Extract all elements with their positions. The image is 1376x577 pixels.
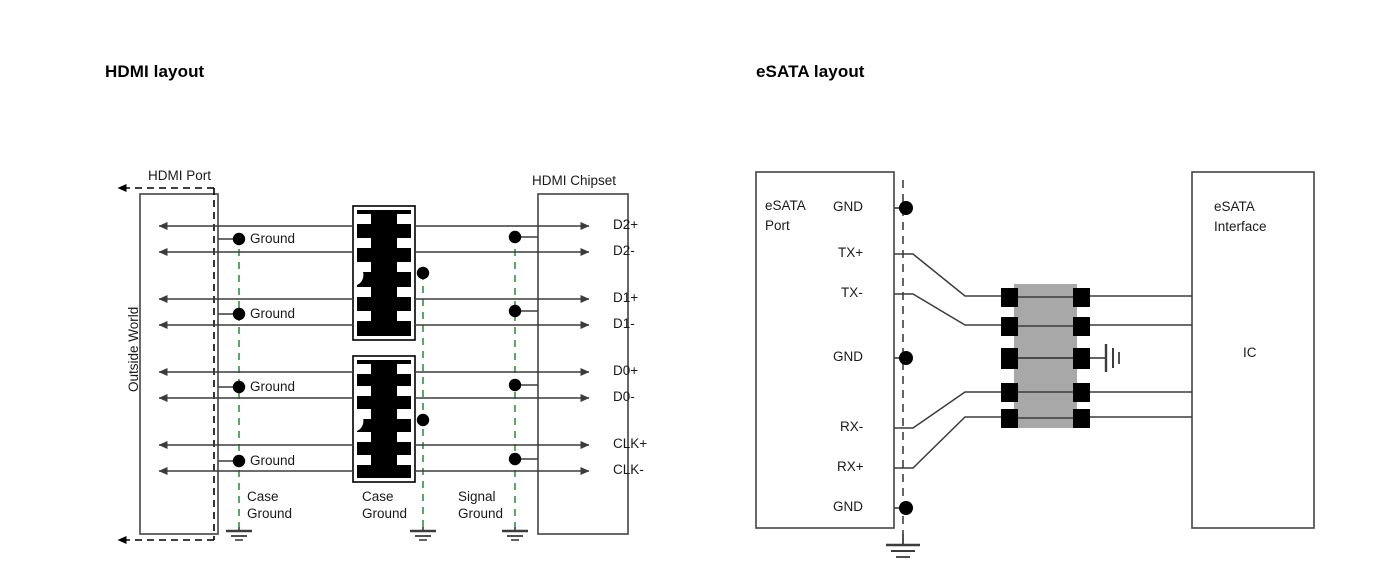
junction-dot-icon	[899, 351, 913, 365]
junction-dot-icon	[417, 267, 429, 279]
bottom-label-case-ground-1-line1: Case	[247, 489, 279, 505]
signal-label-d0n: D0-	[613, 389, 635, 405]
ground-stub-1	[218, 233, 245, 245]
dip-ic-icon-upper	[353, 206, 415, 340]
bottom-label-case-ground-2-line1: Case	[362, 489, 394, 505]
junction-dot-icon	[233, 308, 245, 320]
junction-dot-icon	[509, 453, 521, 465]
esata-port-label-line1: eSATA	[765, 198, 806, 214]
esata-interface-label-line1: eSATA	[1214, 199, 1255, 215]
hdmi-diagram	[118, 188, 628, 540]
ground-stub-label-1: Ground	[250, 231, 295, 247]
signal-label-d2p: D2+	[613, 217, 638, 233]
esata-pin-label-gnd-1: GND	[833, 199, 863, 215]
signal-label-d1p: D1+	[613, 290, 638, 306]
ground-stub-3	[218, 381, 245, 393]
junction-dot-icon	[899, 201, 913, 215]
esata-pin-label-gnd-2: GND	[833, 349, 863, 365]
signal-label-d2n: D2-	[613, 243, 635, 259]
esata-ic-label: IC	[1243, 345, 1257, 361]
ground-symbol-case-2	[410, 527, 436, 540]
ground-symbol-case-1	[226, 527, 252, 540]
common-mode-filter-icon	[1001, 284, 1090, 428]
junction-dot-icon	[509, 379, 521, 391]
esata-ground-symbol	[886, 534, 920, 557]
esata-pin-label-txp: TX+	[838, 245, 863, 261]
esata-interface-label-line2: Interface	[1214, 219, 1267, 235]
junction-dot-icon	[233, 381, 245, 393]
esata-pin-label-txn: TX-	[841, 285, 863, 301]
hdmi-chipset-label: HDMI Chipset	[532, 173, 616, 189]
ground-stub-label-3: Ground	[250, 379, 295, 395]
dip-ic-icon-lower	[353, 356, 415, 482]
esata-output-wires	[1088, 296, 1192, 417]
outside-world-box	[140, 194, 218, 534]
signal-label-clkp: CLK+	[613, 436, 647, 452]
ground-stub-label-4: Ground	[250, 453, 295, 469]
outside-world-label: Outside World	[126, 307, 141, 392]
esata-pin-label-rxp: RX+	[837, 459, 864, 475]
junction-dot-icon	[417, 414, 429, 426]
esata-port-label-line2: Port	[765, 218, 790, 234]
hdmi-case-ground-stubs	[218, 233, 245, 467]
esata-pin-label-gnd-3: GND	[833, 499, 863, 515]
junction-dot-icon	[509, 231, 521, 243]
ground-stub-4	[218, 455, 245, 467]
signal-label-d1n: D1-	[613, 316, 635, 332]
ground-stub-label-2: Ground	[250, 306, 295, 322]
diagram-page: HDMI layout eSATA layout	[0, 0, 1376, 577]
ground-stub-2	[218, 308, 245, 320]
signal-label-clkn: CLK-	[613, 462, 644, 478]
hdmi-signal-ground-stubs	[509, 231, 538, 465]
ground-symbol-signal	[502, 527, 528, 540]
junction-dot-icon	[233, 233, 245, 245]
diagram-vector-layer	[0, 0, 1376, 577]
bottom-label-case-ground-1-line2: Ground	[247, 506, 292, 522]
esata-pin-label-rxn: RX-	[840, 419, 863, 435]
signal-label-d0p: D0+	[613, 363, 638, 379]
chassis-ground-icon	[1090, 344, 1119, 372]
junction-dot-icon	[509, 305, 521, 317]
hdmi-port-label: HDMI Port	[148, 168, 211, 184]
junction-dot-icon	[233, 455, 245, 467]
bottom-label-signal-ground-line2: Ground	[458, 506, 503, 522]
junction-dot-icon	[899, 501, 913, 515]
bottom-label-case-ground-2-line2: Ground	[362, 506, 407, 522]
bottom-label-signal-ground-line1: Signal	[458, 489, 496, 505]
